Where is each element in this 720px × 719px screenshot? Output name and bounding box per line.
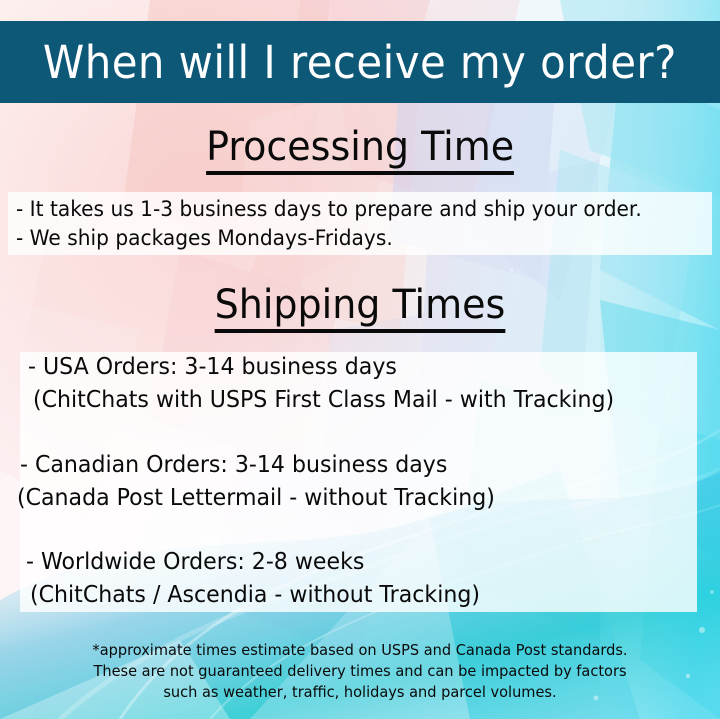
section-heading-shipping-times: Shipping Times [0,282,720,333]
shipping-entry-canada-region: - Canadian Orders: 3-14 business days [20,452,447,478]
shipping-entry-usa-region: - USA Orders: 3-14 business days [28,354,397,380]
processing-time-line-2: - We ship packages Mondays-Fridays. [16,226,393,250]
processing-time-line-1: - It takes us 1-3 business days to prepa… [16,197,642,221]
section-heading-shipping-times-label: Shipping Times [215,282,506,333]
shipping-entry-canada-carrier: (Canada Post Lettermail - without Tracki… [17,485,495,511]
section-heading-processing-time-label: Processing Time [206,124,514,175]
disclaimer-line-1: *approximate times estimate based on USP… [11,640,709,661]
shipping-entry-worldwide-region: - Worldwide Orders: 2-8 weeks [26,549,364,575]
shipping-entry-usa-carrier: (ChitChats with USPS First Class Mail - … [33,387,614,413]
disclaimer-line-3: such as weather, traffic, holidays and p… [11,682,709,703]
disclaimer-note: *approximate times estimate based on USP… [0,640,720,703]
content-area: Processing Time - It takes us 1-3 busine… [0,0,720,719]
faq-poster: When will I receive my order? Processing… [0,0,720,719]
section-heading-processing-time: Processing Time [0,124,720,175]
shipping-entry-worldwide-carrier: (ChitChats / Ascendia - without Tracking… [30,582,480,608]
disclaimer-line-2: These are not guaranteed delivery times … [11,661,709,682]
